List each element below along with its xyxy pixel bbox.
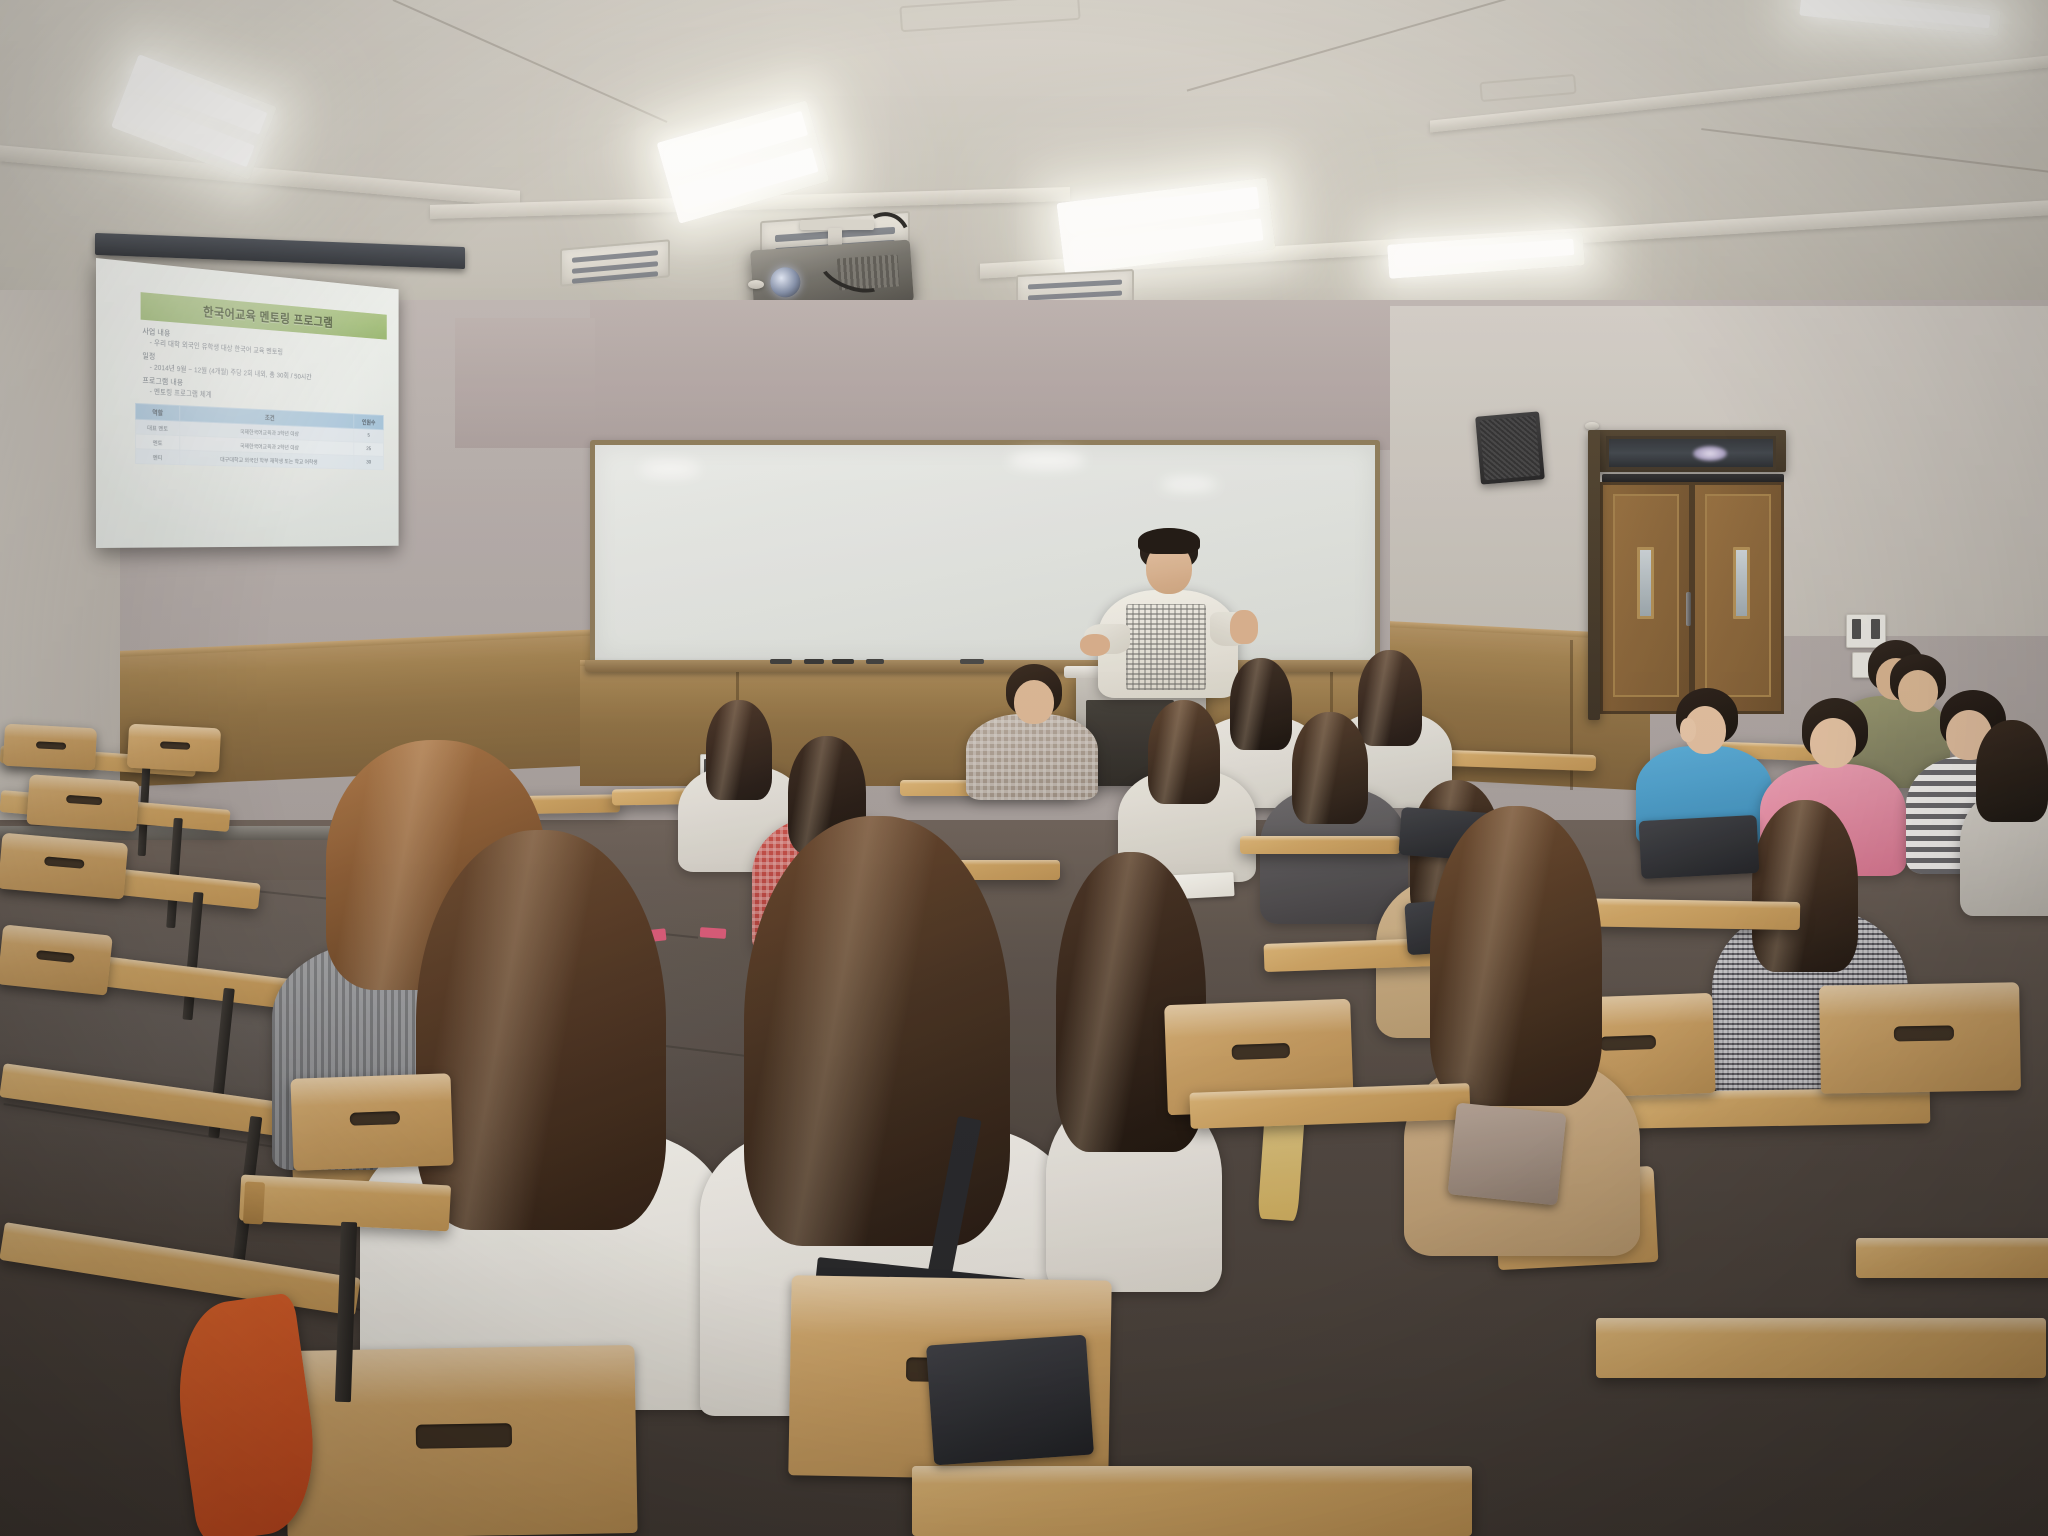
desk (1856, 1238, 2048, 1278)
cell-count: 25 (354, 442, 383, 456)
cell-role: 대표 멘토 (136, 419, 180, 435)
desk-foreground (912, 1466, 1472, 1536)
student-head (1898, 670, 1938, 712)
whiteboard-marker[interactable] (770, 659, 792, 664)
upper-wall-panel (455, 318, 595, 448)
whiteboard-marker[interactable] (866, 659, 884, 664)
student-face-profile (1680, 718, 1696, 742)
student-top (966, 714, 1098, 800)
whiteboard (590, 440, 1380, 665)
student-hair (1430, 806, 1602, 1106)
door-jamb (1588, 430, 1600, 720)
chair[interactable] (0, 833, 128, 900)
shoulder-bag[interactable] (926, 1335, 1094, 1466)
door-left-leaf[interactable] (1600, 482, 1692, 714)
student-light-top-far-right (1960, 720, 2048, 910)
smoke-detector (748, 280, 764, 289)
chair[interactable] (1819, 982, 2021, 1093)
cell-count: 30 (354, 455, 383, 469)
chair[interactable] (290, 1073, 453, 1171)
presenter-left-hand (1080, 634, 1110, 656)
door-handle[interactable] (1686, 592, 1691, 626)
smoke-detector (1585, 422, 1599, 430)
student-checkered-back-left (962, 664, 1102, 794)
wall-speaker (1475, 411, 1545, 484)
chair[interactable] (127, 724, 221, 773)
black-backpack[interactable] (1639, 815, 1760, 879)
slide-table: 역할 조건 인원수 대표 멘토 국제한국어교육과 3학년 이상 5 멘토 국제한… (135, 403, 384, 470)
desk-lip (243, 1182, 265, 1225)
student-hair (1752, 800, 1858, 972)
whiteboard-glare (640, 462, 700, 476)
upper-wall-panel (590, 300, 1390, 450)
desk-foreground (1596, 1318, 2046, 1378)
student-hair (416, 830, 666, 1230)
door-right-leaf[interactable] (1692, 482, 1784, 714)
cell-role: 멘티 (136, 449, 180, 465)
student-gray-top-mid (1118, 700, 1258, 870)
slide-col-count: 인원수 (354, 414, 383, 430)
student-hair (1976, 720, 2048, 822)
slide-col-role: 역할 (136, 403, 180, 421)
presenter-hair-top (1138, 528, 1200, 554)
chair[interactable] (0, 924, 113, 995)
patterned-bag[interactable] (1447, 1103, 1566, 1206)
desk (1240, 836, 1400, 854)
student-head (1014, 680, 1054, 724)
classroom-photo: 한국어교육 멘토링 프로그램 사업 내용 - 우리 대학 외국인 유학생 대상 … (0, 0, 2048, 1536)
projector-mount-pole (828, 228, 842, 246)
student-hair (744, 816, 1010, 1246)
whiteboard-marker[interactable] (832, 659, 854, 664)
cell-role: 멘토 (136, 434, 180, 450)
whiteboard-glare (1008, 452, 1086, 468)
whiteboard-marker[interactable] (804, 659, 824, 664)
presenter-shirt-pattern (1126, 604, 1206, 690)
chair[interactable] (3, 724, 97, 771)
presenter-right-hand (1230, 610, 1258, 644)
student-hair (1292, 712, 1368, 824)
cell-count: 5 (354, 428, 383, 443)
student-hair (1148, 700, 1220, 804)
door-transom-window (1606, 436, 1776, 470)
whiteboard-glare (1160, 478, 1218, 491)
chair[interactable] (26, 774, 139, 832)
projection-screen: 한국어교육 멘토링 프로그램 사업 내용 - 우리 대학 외국인 유학생 대상 … (96, 258, 399, 548)
student-back-far-right (1870, 654, 1970, 754)
student-head (1810, 718, 1856, 768)
